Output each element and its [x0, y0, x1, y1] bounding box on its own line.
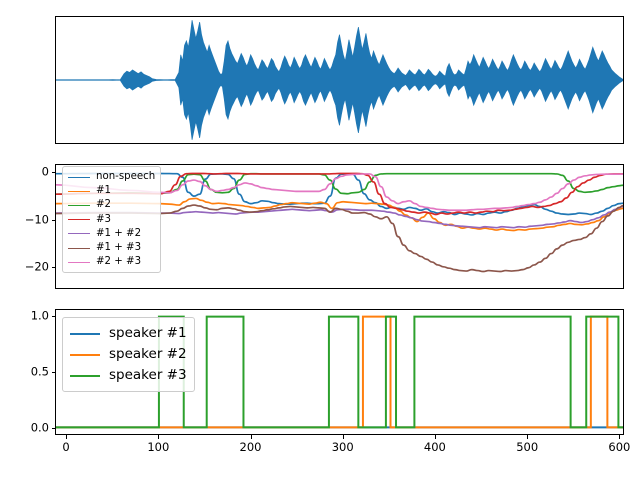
x-tick-label: 0 — [62, 442, 69, 454]
waveform-trace — [56, 20, 623, 140]
x-tickmark — [158, 435, 159, 439]
matplotlib-figure: 0−10−200.00.51.00100200300400500600 non-… — [0, 0, 640, 480]
legend-entry: speaker #3 — [70, 365, 187, 386]
legend-swatch — [70, 354, 100, 356]
x-tick-label: 100 — [147, 442, 169, 454]
y-tick-label: −10 — [25, 214, 49, 226]
legend-label: #2 + #3 — [96, 257, 141, 267]
legend-entry: #1 — [68, 184, 155, 198]
x-tick-label: 300 — [332, 442, 354, 454]
speaker-activity-legend: speaker #1speaker #2speaker #3 — [62, 317, 195, 392]
legend-label: #1 + #3 — [96, 243, 141, 253]
x-tickmark — [435, 435, 436, 439]
y-tick-label: 0 — [42, 166, 49, 178]
log-likelihood-legend: non-speech#1#2#3#1 + #2#1 + #3#2 + #3 — [62, 166, 161, 273]
legend-swatch — [70, 333, 100, 335]
legend-entry: #1 + #2 — [68, 227, 155, 241]
y-tickmark — [52, 372, 56, 373]
x-tickmark — [619, 435, 620, 439]
legend-swatch — [68, 248, 90, 249]
legend-swatch — [68, 262, 90, 263]
x-tick-label: 600 — [608, 442, 630, 454]
legend-swatch — [68, 177, 90, 178]
legend-label: #1 + #2 — [96, 229, 141, 239]
y-tickmark — [52, 267, 56, 268]
legend-label: non-speech — [96, 172, 155, 182]
y-tickmark — [52, 316, 56, 317]
legend-swatch — [68, 219, 90, 220]
x-tick-label: 200 — [240, 442, 262, 454]
legend-label: #1 — [96, 186, 111, 196]
legend-label: #2 — [96, 200, 111, 210]
x-tickmark — [66, 435, 67, 439]
x-tickmark — [527, 435, 528, 439]
y-tick-label: 1.0 — [31, 310, 49, 322]
legend-swatch — [68, 233, 90, 234]
legend-swatch — [68, 191, 90, 192]
legend-entry: speaker #2 — [70, 344, 187, 365]
y-tick-label: −20 — [25, 262, 49, 274]
x-tickmark — [251, 435, 252, 439]
legend-entry: #2 + #3 — [68, 255, 155, 269]
legend-label: speaker #2 — [109, 348, 187, 362]
x-tick-label: 400 — [424, 442, 446, 454]
y-tickmark — [52, 172, 56, 173]
legend-label: speaker #1 — [109, 327, 187, 341]
legend-entry: #3 — [68, 213, 155, 227]
x-tickmark — [343, 435, 344, 439]
legend-swatch — [68, 205, 90, 206]
y-tickmark — [52, 428, 56, 429]
legend-swatch — [70, 375, 100, 377]
y-tickmark — [52, 220, 56, 221]
y-tick-label: 0.5 — [31, 366, 49, 378]
waveform-plot — [56, 17, 623, 143]
waveform-panel — [55, 16, 624, 144]
legend-label: #3 — [96, 215, 111, 225]
legend-entry: #1 + #3 — [68, 241, 155, 255]
y-tick-label: 0.0 — [31, 423, 49, 435]
legend-entry: speaker #1 — [70, 323, 187, 344]
legend-entry: #2 — [68, 198, 155, 212]
x-tick-label: 500 — [516, 442, 538, 454]
legend-entry: non-speech — [68, 170, 155, 184]
legend-label: speaker #3 — [109, 369, 187, 383]
